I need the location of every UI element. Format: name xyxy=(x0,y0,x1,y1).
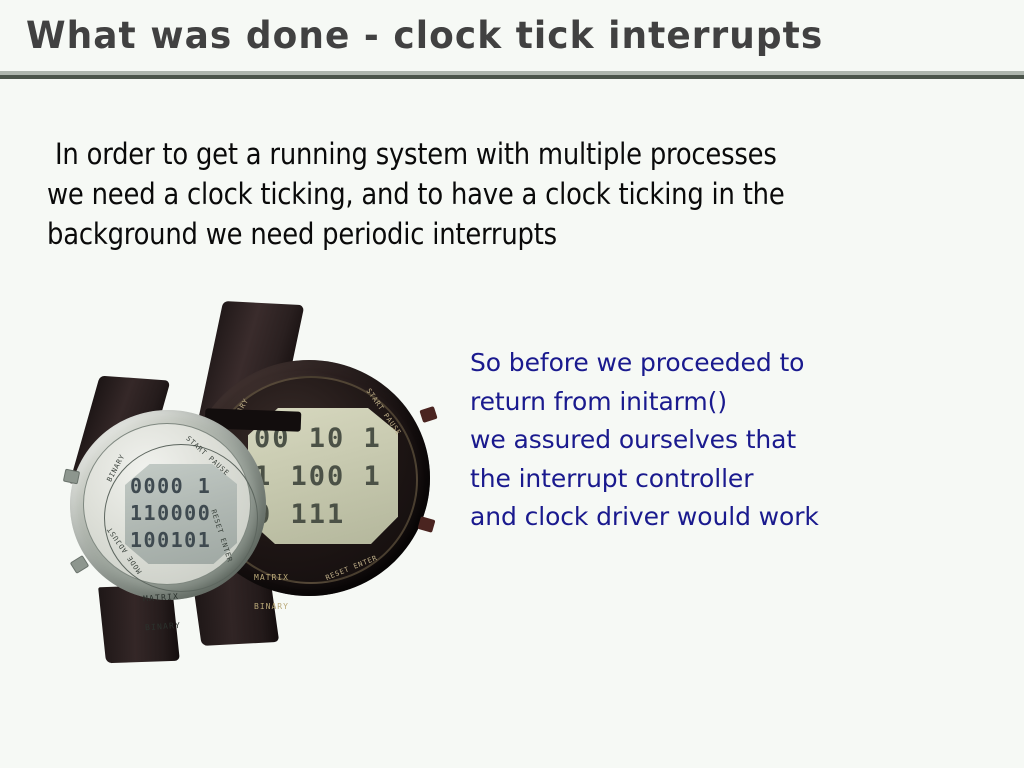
silver-watch-brand-line-1: MATRIX xyxy=(143,588,239,604)
body-paragraph: In order to get a running system with mu… xyxy=(47,134,943,254)
blue-note-line-2: return from initarm() xyxy=(470,383,940,422)
silver-watch-brand: MATRIX BINARY xyxy=(141,569,242,652)
black-watch-brand-line-2: BINARY xyxy=(254,602,374,612)
binary-watches-photo: 00 10 1 1 100 1 0 111 START PAUSE BINARY… xyxy=(62,298,377,664)
silver-binary-watch: 0000 1 110000 100101 START PAUSE BINARY … xyxy=(70,410,266,600)
slide-canvas: What was done - clock tick interrupts In… xyxy=(0,0,1024,768)
silver-watch-brand-line-2: BINARY xyxy=(145,616,241,632)
silver-watch-left-button xyxy=(63,469,80,485)
title-divider xyxy=(0,71,1024,79)
body-line-3: background we need periodic interrupts xyxy=(47,214,943,254)
title-area: What was done - clock tick interrupts xyxy=(0,0,1024,72)
silver-watch-bottom-left-button xyxy=(70,555,90,574)
body-line-1: In order to get a running system with mu… xyxy=(47,134,943,174)
blue-note-line-4: the interrupt controller xyxy=(470,460,940,499)
blue-note-line-1: So before we proceeded to xyxy=(470,344,940,383)
silver-watch-lcd-row-1: 0000 1 xyxy=(130,473,236,500)
black-watch-brand-line-1: MATRIX xyxy=(254,573,374,583)
black-watch-lcd-row-3: 0 111 xyxy=(254,496,396,534)
body-line-2: we need a clock ticking, and to have a c… xyxy=(47,174,943,214)
black-watch-brand: MATRIX BINARY xyxy=(254,554,374,630)
silver-watch-lcd-screen: 0000 1 110000 100101 xyxy=(125,464,237,564)
black-watch-bottom-right-button xyxy=(417,516,435,533)
page-title: What was done - clock tick interrupts xyxy=(26,14,823,57)
blue-note-paragraph: So before we proceeded to return from in… xyxy=(470,344,940,537)
divider-dark-band xyxy=(0,75,1024,79)
black-watch-top-right-button xyxy=(419,406,437,423)
blue-note-line-3: we assured ourselves that xyxy=(470,421,940,460)
black-watch-lcd-row-2: 1 100 1 xyxy=(254,458,396,496)
blue-note-line-5: and clock driver would work xyxy=(470,498,940,537)
silver-watch-bezel: 0000 1 110000 100101 START PAUSE BINARY … xyxy=(83,423,251,585)
